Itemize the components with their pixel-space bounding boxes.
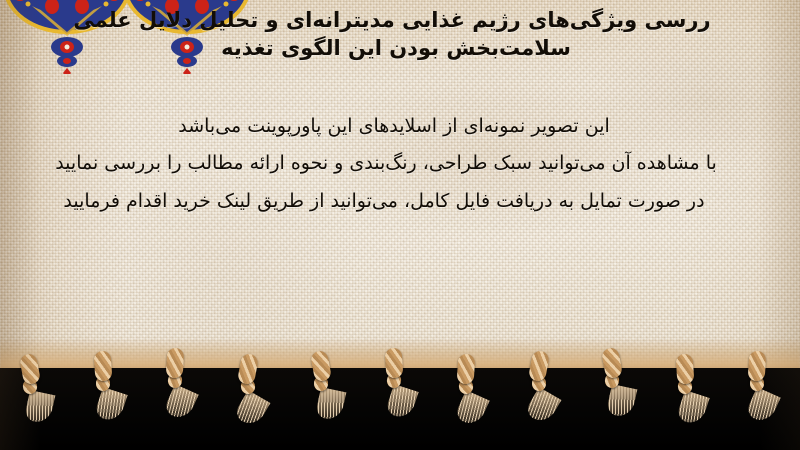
title-line-1: ررسی ویژگی‌های رژیم غذایی مدیترانه‌ای و … bbox=[0, 6, 792, 34]
fringe-knot bbox=[310, 350, 332, 383]
fringe-knot bbox=[166, 348, 185, 379]
body-line-2: با مشاهده آن می‌توانید سبک طراحی، رنگ‌بن… bbox=[0, 145, 786, 182]
slide-title: ررسی ویژگی‌های رژیم غذایی مدیترانه‌ای و … bbox=[0, 6, 800, 62]
fringe-knot bbox=[528, 350, 550, 383]
fringe-knot bbox=[384, 348, 403, 379]
fringe-knot bbox=[19, 353, 41, 386]
slide-body: این تصویر نمونه‌ای از اسلایدهای این پاور… bbox=[0, 108, 800, 220]
slide-canvas: ررسی ویژگی‌های رژیم غذایی مدیترانه‌ای و … bbox=[0, 0, 800, 450]
body-line-1: این تصویر نمونه‌ای از اسلایدهای این پاور… bbox=[0, 108, 794, 145]
fringe-knot bbox=[93, 351, 112, 382]
fringe-knot bbox=[748, 351, 767, 382]
carpet-fringe-tassels bbox=[0, 344, 800, 408]
fringe-knot bbox=[457, 354, 476, 385]
fringe-knot bbox=[675, 354, 694, 385]
title-line-2: سلامت‌بخش بودن این الگوی تغذیه bbox=[0, 34, 796, 62]
body-line-3: در صورت تمایل به دریافت فایل کامل، می‌تو… bbox=[0, 183, 784, 220]
fringe-knot bbox=[237, 353, 259, 386]
fringe-knot bbox=[601, 347, 623, 380]
